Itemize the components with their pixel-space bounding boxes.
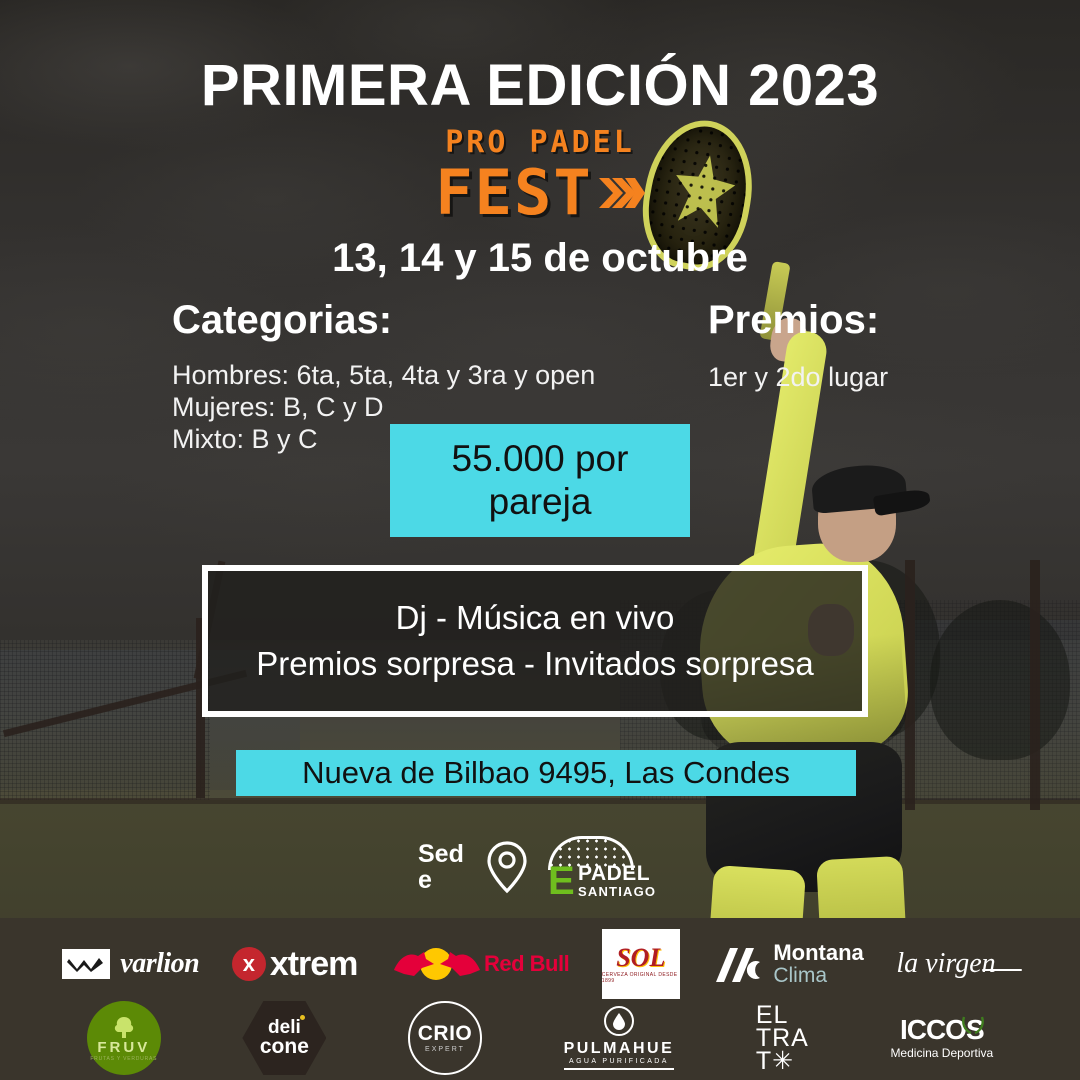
category-item-men: Hombres: 6ta, 5ta, 4ta y 3ra y open — [172, 360, 595, 392]
xtrem-wordmark: xtrem — [270, 945, 358, 984]
price-line-2: pareja — [477, 481, 604, 522]
epadel-letter-e: E — [548, 863, 575, 899]
event-logo: PRO PADEL FEST — [0, 125, 1080, 224]
iccos-wordmark: ICCOS — [900, 1016, 984, 1044]
el-trat-wordmark: EL TRA T✳ — [756, 1004, 809, 1073]
deli-cone-line-2: cone — [260, 1036, 309, 1057]
event-dates: 13, 14 y 15 de octubre — [0, 236, 1080, 281]
sponsor-red-bull: Red Bull — [390, 946, 569, 982]
sponsor-crio-expert: CRIO EXPERT — [408, 1001, 482, 1075]
sponsor-xtrem: x xtrem — [232, 945, 358, 984]
price-line-1: 55.000 por — [440, 438, 641, 479]
epadel-city: SANTIAGO — [578, 884, 656, 900]
venue-label: Sed e — [418, 841, 472, 894]
sponsor-varlion: varlion — [62, 948, 199, 980]
court-fence-left — [0, 640, 210, 800]
poster-canvas: PRIMERA EDICIÓN 2023 PRO PADEL FEST 13, … — [0, 0, 1080, 1080]
venue-row: Sed e E PADEL SANTIAGO — [418, 832, 678, 902]
fruv-subtext: FRUTAS Y VERDURAS — [90, 1056, 157, 1062]
sponsor-la-virgen: la virgen — [896, 948, 1017, 980]
varlion-wordmark: varlion — [120, 948, 199, 980]
red-bull-wordmark: Red Bull — [484, 953, 569, 975]
page-title: PRIMERA EDICIÓN 2023 — [0, 52, 1080, 119]
category-item-women: Mujeres: B, C y D — [172, 392, 595, 424]
pulmahue-wordmark: PULMAHUE — [564, 1040, 675, 1058]
la-virgen-text: la virgen — [896, 948, 995, 979]
pulmahue-badge: PULMAHUE AGUA PURIFICADA — [564, 1006, 675, 1070]
fruv-badge: FRUV FRUTAS Y VERDURAS — [87, 1001, 161, 1075]
crio-wordmark: CRIO — [418, 1023, 473, 1044]
sponsor-band: varlion x xtrem Red Bull SOL — [0, 918, 1080, 1080]
sol-card: SOL CERVEZA ORIGINAL DESDE 1899 — [602, 929, 680, 999]
venue-label-line-1: Sed — [418, 841, 472, 867]
sponsor-sol: SOL CERVEZA ORIGINAL DESDE 1899 — [602, 929, 680, 999]
extras-line-2: Premios sorpresa - Invitados sorpresa — [256, 644, 814, 684]
sponsor-deli-cone: deli cone — [242, 1001, 326, 1075]
epadel-wordmark: PADEL SANTIAGO — [578, 863, 656, 900]
sponsor-el-trat: EL TRA T✳ — [756, 1004, 809, 1073]
sol-wordmark: SOL — [616, 945, 665, 971]
sponsor-pulmahue: PULMAHUE AGUA PURIFICADA — [564, 1006, 675, 1070]
fruv-tree-icon — [111, 1015, 137, 1039]
palm-silhouette-3 — [930, 600, 1070, 760]
pulmahue-subtext: AGUA PURIFICADA — [564, 1058, 675, 1070]
deli-cone-badge: deli cone — [242, 1001, 326, 1075]
crio-subtext: EXPERT — [425, 1046, 465, 1053]
sponsor-row-top: varlion x xtrem Red Bull SOL — [0, 928, 1080, 1000]
iccos-badge: ICCOS Medicina Deportiva — [890, 1016, 993, 1060]
montana-mark-icon — [712, 942, 764, 986]
crio-badge: CRIO EXPERT — [408, 1001, 482, 1075]
venue-label-line-2: e — [418, 867, 472, 893]
montana-sub: Clima — [773, 965, 863, 987]
price-badge: 55.000 por pareja — [390, 424, 690, 537]
sponsor-montana-clima: Montana Clima — [712, 941, 863, 986]
prizes-heading: Premios: — [708, 298, 879, 343]
el-trat-line-3: T✳ — [756, 1050, 809, 1073]
xtrem-x-icon: x — [232, 947, 266, 981]
red-bull-bulls-icon — [390, 946, 484, 980]
la-virgen-flourish — [982, 969, 1022, 971]
sol-subtext: CERVEZA ORIGINAL DESDE 1899 — [602, 972, 680, 984]
laurel-wreath-icon — [960, 1014, 986, 1036]
sponsor-fruv: FRUV FRUTAS Y VERDURAS — [87, 1001, 161, 1075]
epadel-name: PADEL — [578, 863, 656, 884]
varlion-mark-icon — [62, 949, 110, 979]
logo-line-fest: FEST — [435, 162, 592, 224]
deli-cone-dot — [300, 1015, 305, 1020]
prizes-detail: 1er y 2do lugar — [708, 362, 888, 393]
court-post-far-right — [1030, 560, 1040, 810]
la-virgen-wordmark: la virgen — [896, 948, 1017, 980]
address-badge: Nueva de Bilbao 9495, Las Condes — [236, 750, 856, 796]
extras-line-1: Dj - Música en vivo — [396, 598, 675, 638]
iccos-subtext: Medicina Deportiva — [890, 1046, 993, 1060]
sponsor-row-bottom: FRUV FRUTAS Y VERDURAS deli cone CRIO EX… — [0, 1000, 1080, 1076]
montana-name: Montana — [773, 941, 863, 964]
categories-heading: Categorias: — [172, 298, 392, 343]
chevron-right-icon — [599, 172, 645, 214]
address-text: Nueva de Bilbao 9495, Las Condes — [302, 755, 790, 791]
price-text: 55.000 por pareja — [390, 438, 690, 523]
montana-wordmark: Montana Clima — [773, 941, 863, 986]
fruv-wordmark: FRUV — [97, 1040, 150, 1055]
sponsor-iccos: ICCOS Medicina Deportiva — [890, 1016, 993, 1060]
location-pin-icon — [486, 840, 528, 894]
extras-box: Dj - Música en vivo Premios sorpresa - I… — [202, 565, 868, 717]
logo-line-pro-padel: PRO PADEL — [0, 125, 1080, 160]
water-drop-icon — [604, 1006, 634, 1036]
epadel-santiago-logo: E PADEL SANTIAGO — [542, 836, 640, 898]
